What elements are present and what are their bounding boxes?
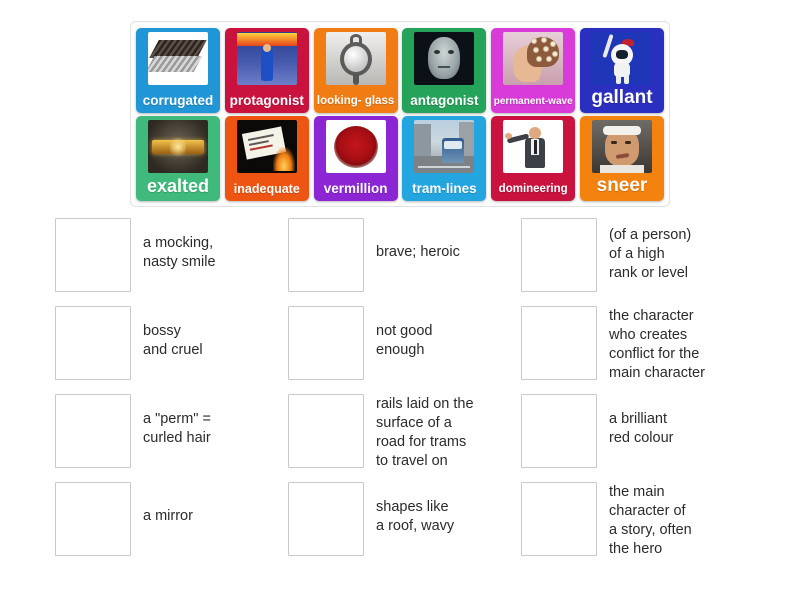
answer-cell-10: a mirror	[55, 482, 288, 570]
answer-cell-9: a brilliant red colour	[521, 394, 754, 482]
answer-cell-3: (of a person) of a high rank or level	[521, 218, 754, 306]
hair-curlers-icon	[503, 32, 563, 85]
burning-exam-paper-icon	[237, 120, 297, 173]
definition-text-5: not good enough	[376, 306, 432, 360]
drop-zone-11[interactable]	[288, 482, 364, 556]
answer-cell-11: shapes like a roof, wavy	[288, 482, 521, 570]
drop-zone-2[interactable]	[288, 218, 364, 292]
drop-zone-4[interactable]	[55, 306, 131, 380]
definition-answer-grid: a mocking, nasty smile brave; heroic (of…	[55, 218, 755, 578]
word-tile-label: gallant	[580, 88, 664, 107]
word-tile-gallant[interactable]: gallant	[580, 28, 664, 113]
drop-zone-8[interactable]	[288, 394, 364, 468]
word-tile-label: inadequate	[225, 183, 309, 196]
word-tile-label: domineering	[491, 184, 575, 196]
answer-cell-6: the character who creates conflict for t…	[521, 306, 754, 394]
word-tile-label: vermillion	[314, 182, 398, 196]
pointing-man-icon	[503, 120, 563, 173]
answer-cell-5: not good enough	[288, 306, 521, 394]
word-tile-tram-lines[interactable]: tram-lines	[402, 116, 486, 201]
definition-text-9: a brilliant red colour	[609, 394, 673, 448]
activity-stage: corrugated protagonist looking- glass	[0, 0, 800, 600]
answer-cell-7: a "perm" = curled hair	[55, 394, 288, 482]
word-tile-domineering[interactable]: domineering	[491, 116, 575, 201]
word-tile-sneer[interactable]: sneer	[580, 116, 664, 201]
word-tile-vermillion[interactable]: vermillion	[314, 116, 398, 201]
knight-mascot-icon	[592, 32, 652, 85]
drop-zone-6[interactable]	[521, 306, 597, 380]
definition-text-7: a "perm" = curled hair	[143, 394, 211, 448]
definition-text-12: the main character of a story, often the…	[609, 482, 692, 559]
definition-text-2: brave; heroic	[376, 218, 460, 262]
word-tile-label: protagonist	[225, 94, 309, 108]
word-tile-label: exalted	[136, 177, 220, 195]
word-tile-corrugated[interactable]: corrugated	[136, 28, 220, 113]
tile-row-2: exalted inadequate vermillion	[136, 116, 664, 201]
definition-text-3: (of a person) of a high rank or level	[609, 218, 691, 283]
answer-cell-1: a mocking, nasty smile	[55, 218, 288, 306]
definition-text-4: bossy and cruel	[143, 306, 203, 360]
drop-zone-9[interactable]	[521, 394, 597, 468]
answer-cell-12: the main character of a story, often the…	[521, 482, 754, 570]
drop-zone-12[interactable]	[521, 482, 597, 556]
superhero-comic-icon	[237, 32, 297, 85]
word-tile-label: looking- glass	[314, 96, 398, 108]
word-tile-label: tram-lines	[402, 182, 486, 196]
drop-zone-1[interactable]	[55, 218, 131, 292]
word-tile-label: antagonist	[402, 94, 486, 108]
word-tile-tray: corrugated protagonist looking- glass	[130, 21, 670, 207]
answer-cell-2: brave; heroic	[288, 218, 521, 306]
tile-row-1: corrugated protagonist looking- glass	[136, 28, 664, 113]
definition-text-10: a mirror	[143, 482, 193, 526]
answer-cell-4: bossy and cruel	[55, 306, 288, 394]
corrugated-roof-sheets-icon	[148, 32, 208, 85]
word-tile-exalted[interactable]: exalted	[136, 116, 220, 201]
drop-zone-7[interactable]	[55, 394, 131, 468]
word-tile-antagonist[interactable]: antagonist	[402, 28, 486, 113]
definition-text-1: a mocking, nasty smile	[143, 218, 216, 272]
answer-cell-8: rails laid on the surface of a road for …	[288, 394, 521, 482]
word-tile-label: sneer	[580, 176, 664, 195]
hand-mirror-icon	[326, 32, 386, 85]
drop-zone-5[interactable]	[288, 306, 364, 380]
word-tile-label: corrugated	[136, 94, 220, 108]
word-tile-permanent-wave[interactable]: permanent-wave	[491, 28, 575, 113]
red-pigment-jar-icon	[326, 120, 386, 173]
word-tile-protagonist[interactable]: protagonist	[225, 28, 309, 113]
tram-street-icon	[414, 120, 474, 173]
drop-zone-3[interactable]	[521, 218, 597, 292]
exalted-game-logo-icon	[148, 120, 208, 173]
definition-text-11: shapes like a roof, wavy	[376, 482, 454, 536]
word-tile-looking-glass[interactable]: looking- glass	[314, 28, 398, 113]
definition-text-8: rails laid on the surface of a road for …	[376, 394, 474, 471]
word-tile-label: permanent-wave	[491, 97, 575, 107]
word-tile-inadequate[interactable]: inadequate	[225, 116, 309, 201]
definition-text-6: the character who creates conflict for t…	[609, 306, 705, 383]
drop-zone-10[interactable]	[55, 482, 131, 556]
villain-face-icon	[414, 32, 474, 85]
sneering-athlete-icon	[592, 120, 652, 173]
